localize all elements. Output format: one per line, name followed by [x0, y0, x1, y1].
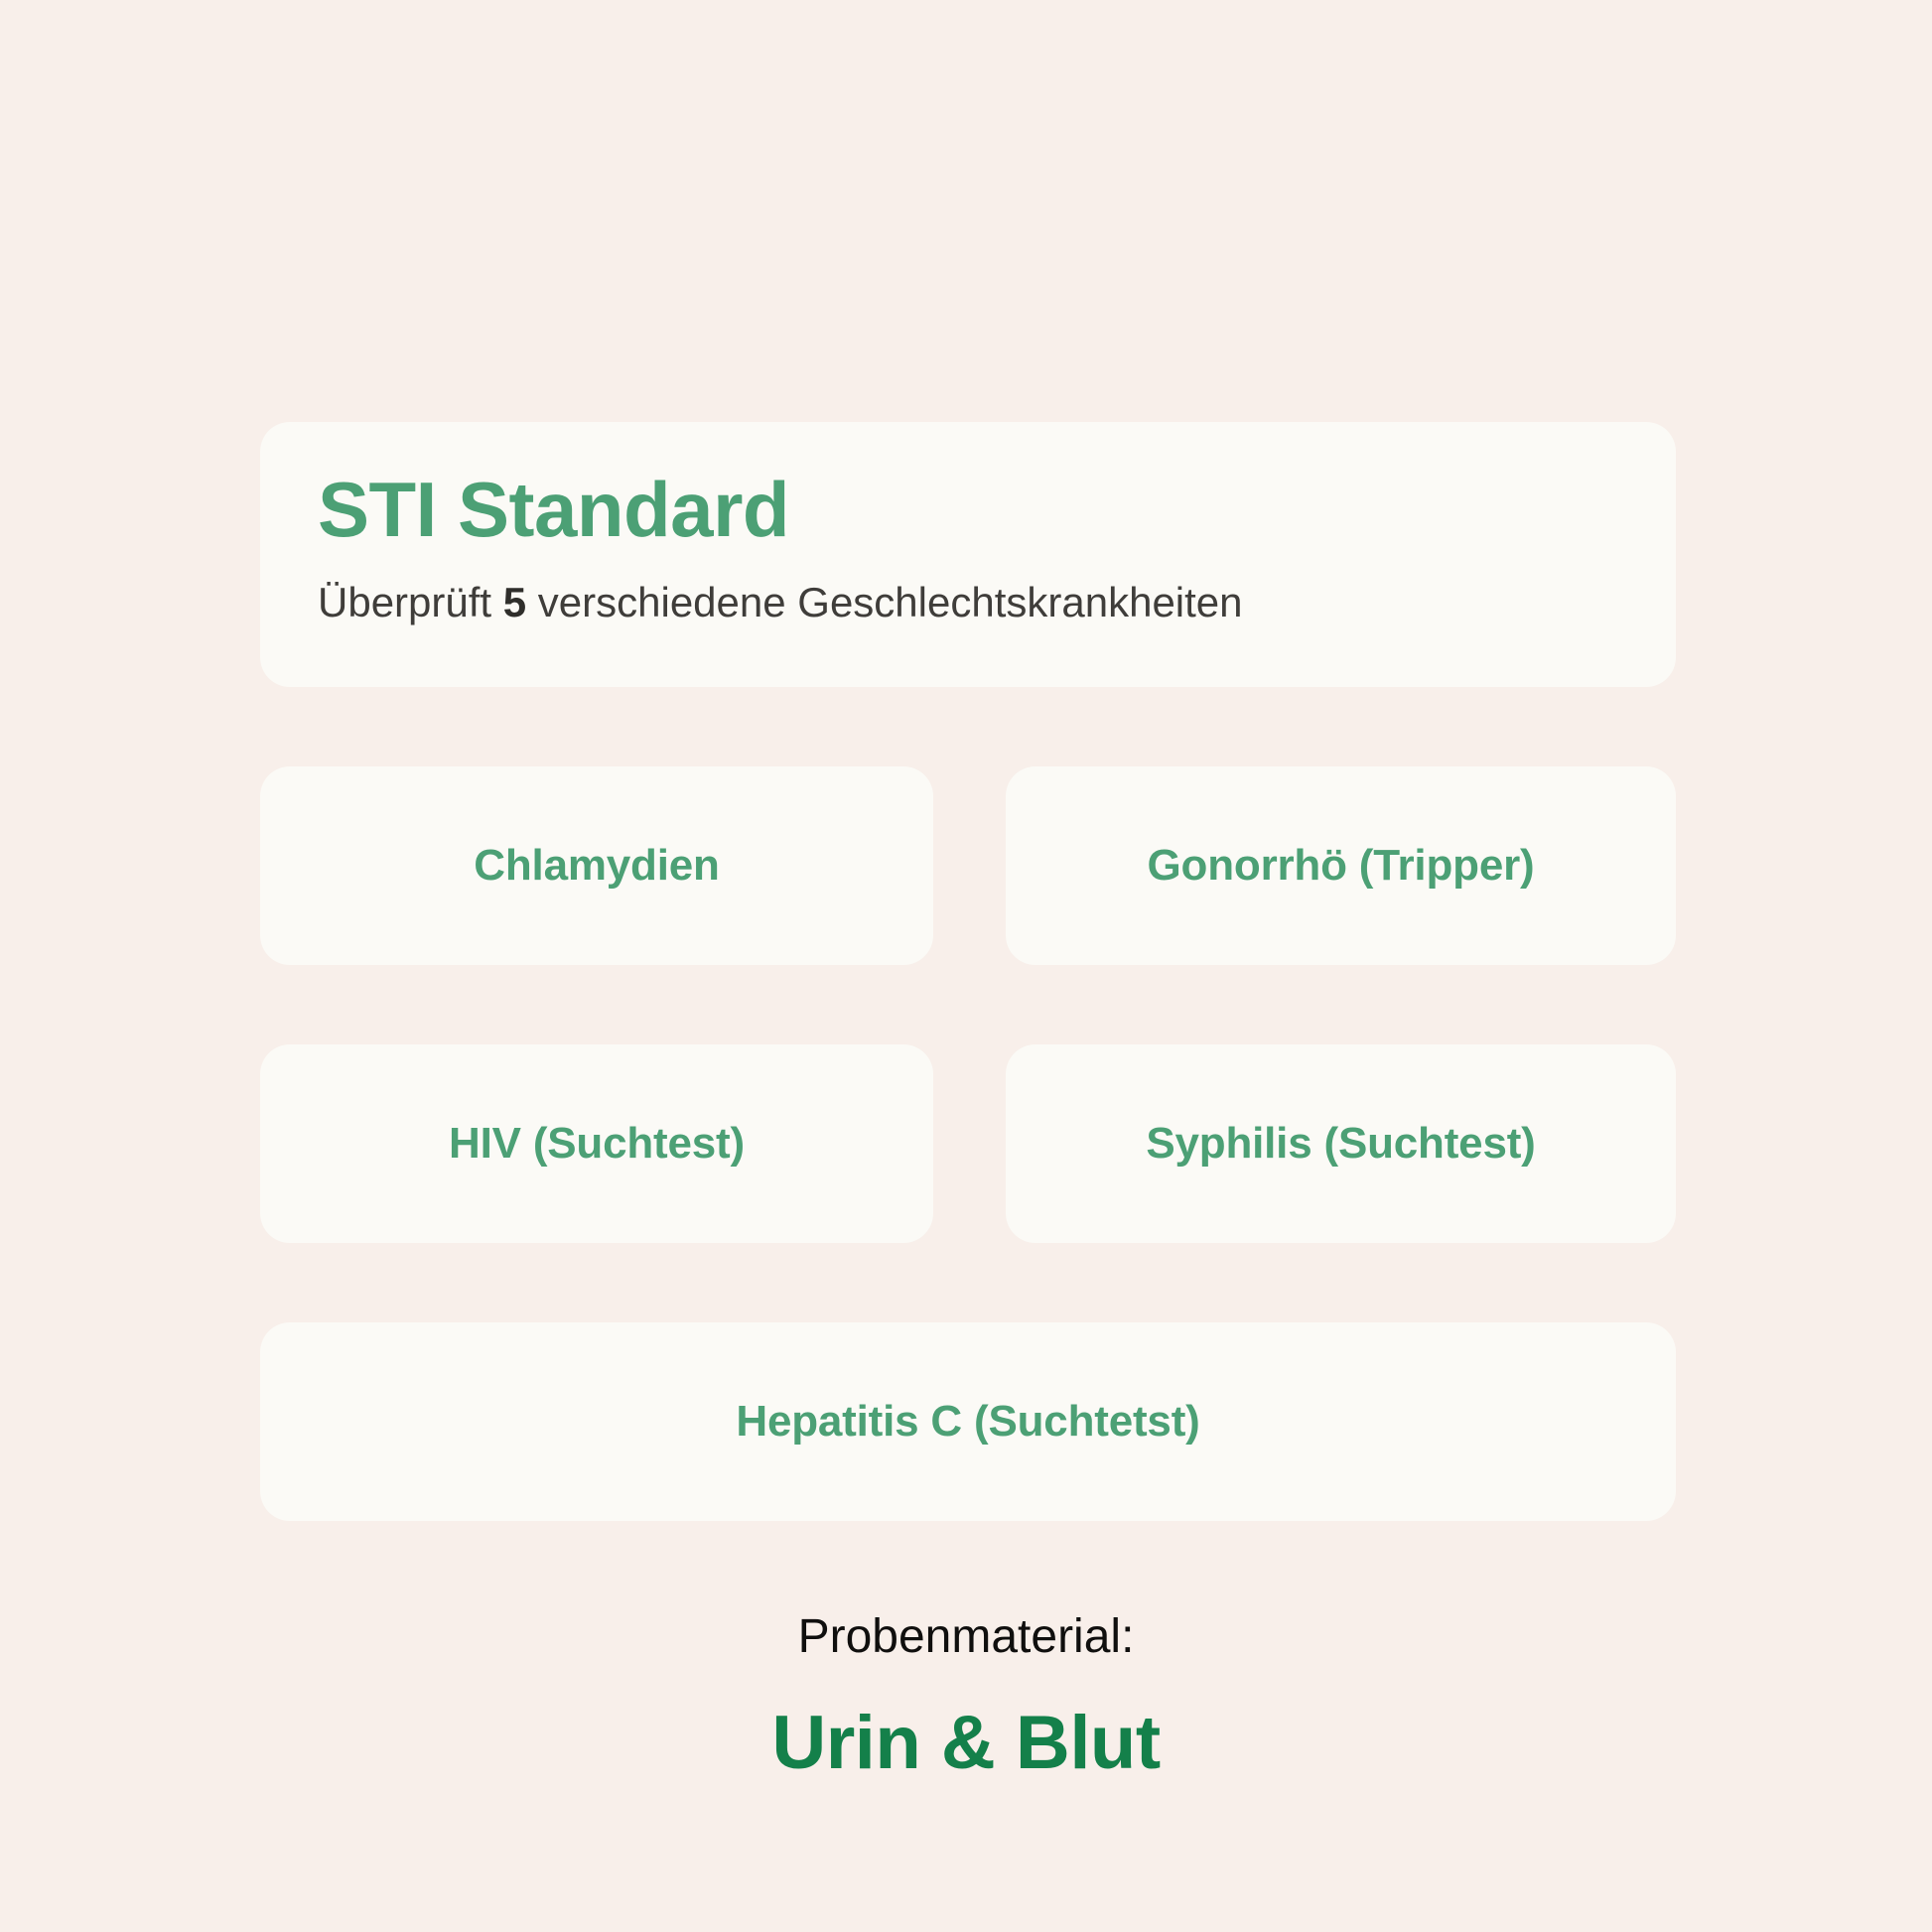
product-info-card: STI Standard Überprüft 5 verschiedene Ge…	[0, 0, 1932, 1932]
analyte-card-gonorrhoe[interactable]: Gonorrhö (Tripper)	[1006, 766, 1676, 965]
subtitle-suffix: verschiedene Geschlechtskrankheiten	[526, 579, 1242, 625]
analyte-label: HIV (Suchtest)	[449, 1118, 745, 1171]
analyte-card-chlamydien[interactable]: Chlamydien	[260, 766, 933, 965]
analyte-count: 5	[503, 579, 526, 625]
analyte-card-syphilis[interactable]: Syphilis (Suchtest)	[1006, 1044, 1676, 1243]
analyte-label: Syphilis (Suchtest)	[1146, 1118, 1535, 1171]
page-title: STI Standard	[318, 470, 1618, 551]
header-card: STI Standard Überprüft 5 verschiedene Ge…	[260, 422, 1676, 687]
content-column: STI Standard Überprüft 5 verschiedene Ge…	[260, 422, 1676, 1521]
sample-material-label: Probenmaterial:	[0, 1608, 1932, 1666]
analyte-grid: Chlamydien Gonorrhö (Tripper) HIV (Sucht…	[260, 766, 1676, 1521]
product-subtitle: Überprüft 5 verschiedene Geschlechtskran…	[318, 577, 1618, 629]
subtitle-prefix: Überprüft	[318, 579, 503, 625]
analyte-label: Gonorrhö (Tripper)	[1148, 840, 1535, 893]
analyte-card-hiv[interactable]: HIV (Suchtest)	[260, 1044, 933, 1243]
analyte-label: Chlamydien	[474, 840, 719, 893]
sample-material-block: Probenmaterial: Urin & Blut	[0, 1608, 1932, 1786]
analyte-card-hepatitis-c[interactable]: Hepatitis C (Suchtetst)	[260, 1322, 1676, 1521]
analyte-label: Hepatitis C (Suchtetst)	[736, 1396, 1199, 1449]
sample-material-value: Urin & Blut	[0, 1700, 1932, 1786]
